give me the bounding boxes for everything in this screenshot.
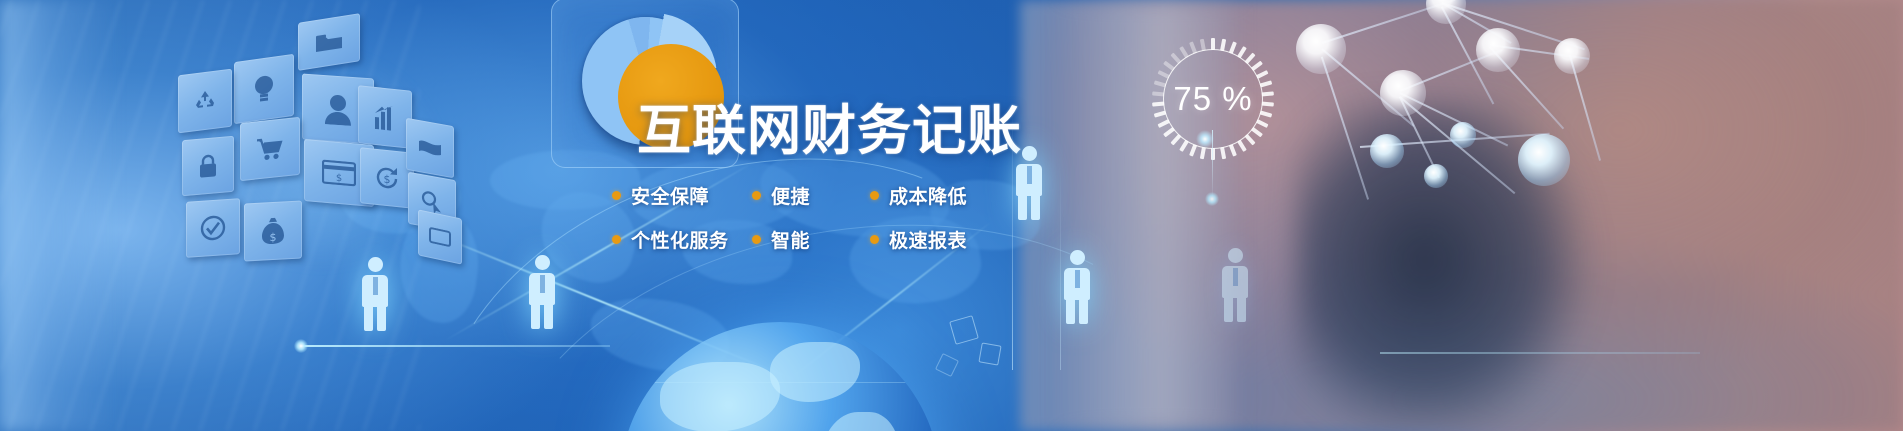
glow-line bbox=[300, 345, 610, 347]
svg-text:$: $ bbox=[270, 231, 277, 244]
svg-text:$: $ bbox=[336, 173, 342, 185]
person-figure bbox=[1218, 248, 1252, 322]
svg-text:$: $ bbox=[384, 173, 391, 187]
progress-gauge: 75 % bbox=[1152, 38, 1274, 160]
card-icon bbox=[418, 209, 462, 264]
bullet-dot-icon bbox=[612, 235, 621, 244]
icon-cube-cluster: $ $ $ bbox=[168, 14, 468, 274]
bullet-dot-icon bbox=[870, 235, 879, 244]
left-light-band bbox=[0, 0, 120, 431]
person-figure bbox=[1060, 250, 1094, 324]
shopping-cart-icon bbox=[240, 117, 300, 181]
feature-label: 极速报表 bbox=[889, 226, 967, 253]
feature-item[interactable]: 便捷 bbox=[752, 182, 870, 209]
person-figure bbox=[525, 255, 559, 329]
lock-icon bbox=[182, 136, 234, 197]
bullet-dot-icon bbox=[752, 235, 761, 244]
decor-square bbox=[978, 342, 1001, 365]
money-icon bbox=[406, 118, 454, 178]
feature-label: 个性化服务 bbox=[631, 226, 729, 253]
page-title: 互联网财务记账 bbox=[637, 103, 1022, 159]
money-bag-icon: $ bbox=[244, 200, 302, 261]
person-figure bbox=[1012, 146, 1046, 220]
feature-label: 智能 bbox=[771, 226, 810, 253]
feature-item[interactable]: 安全保障 bbox=[612, 182, 752, 209]
bullet-dot-icon bbox=[752, 191, 761, 200]
recycle-icon bbox=[178, 69, 232, 134]
banner-root: $ $ $ 互联网财务记账 bbox=[0, 0, 1903, 431]
feature-item[interactable]: 极速报表 bbox=[870, 226, 967, 253]
glow-line bbox=[1380, 352, 1700, 354]
glow-dot-icon bbox=[1205, 192, 1219, 206]
bulb-icon bbox=[234, 54, 294, 124]
feature-item[interactable]: 个性化服务 bbox=[612, 226, 752, 253]
bullet-dot-icon bbox=[612, 191, 621, 200]
bullet-dot-icon bbox=[870, 191, 879, 200]
feature-label: 便捷 bbox=[771, 182, 810, 209]
check-circle-icon bbox=[186, 198, 240, 258]
gauge-connector-line bbox=[1212, 130, 1213, 200]
feature-label: 安全保障 bbox=[631, 182, 709, 209]
folder-icon bbox=[298, 13, 360, 71]
feature-list: 安全保障 便捷 成本降低 个性化服务 智能 极速报表 bbox=[612, 182, 1032, 252]
glow-dot-icon bbox=[294, 339, 308, 353]
feature-label: 成本降低 bbox=[889, 182, 967, 209]
vertical-line bbox=[1012, 110, 1013, 370]
feature-item[interactable]: 智能 bbox=[752, 226, 870, 253]
vertical-line bbox=[1060, 170, 1061, 370]
person-figure bbox=[358, 257, 392, 331]
network-graph bbox=[1290, 0, 1620, 186]
feature-item[interactable]: 成本降低 bbox=[870, 182, 967, 209]
bar-chart-icon bbox=[358, 85, 412, 149]
